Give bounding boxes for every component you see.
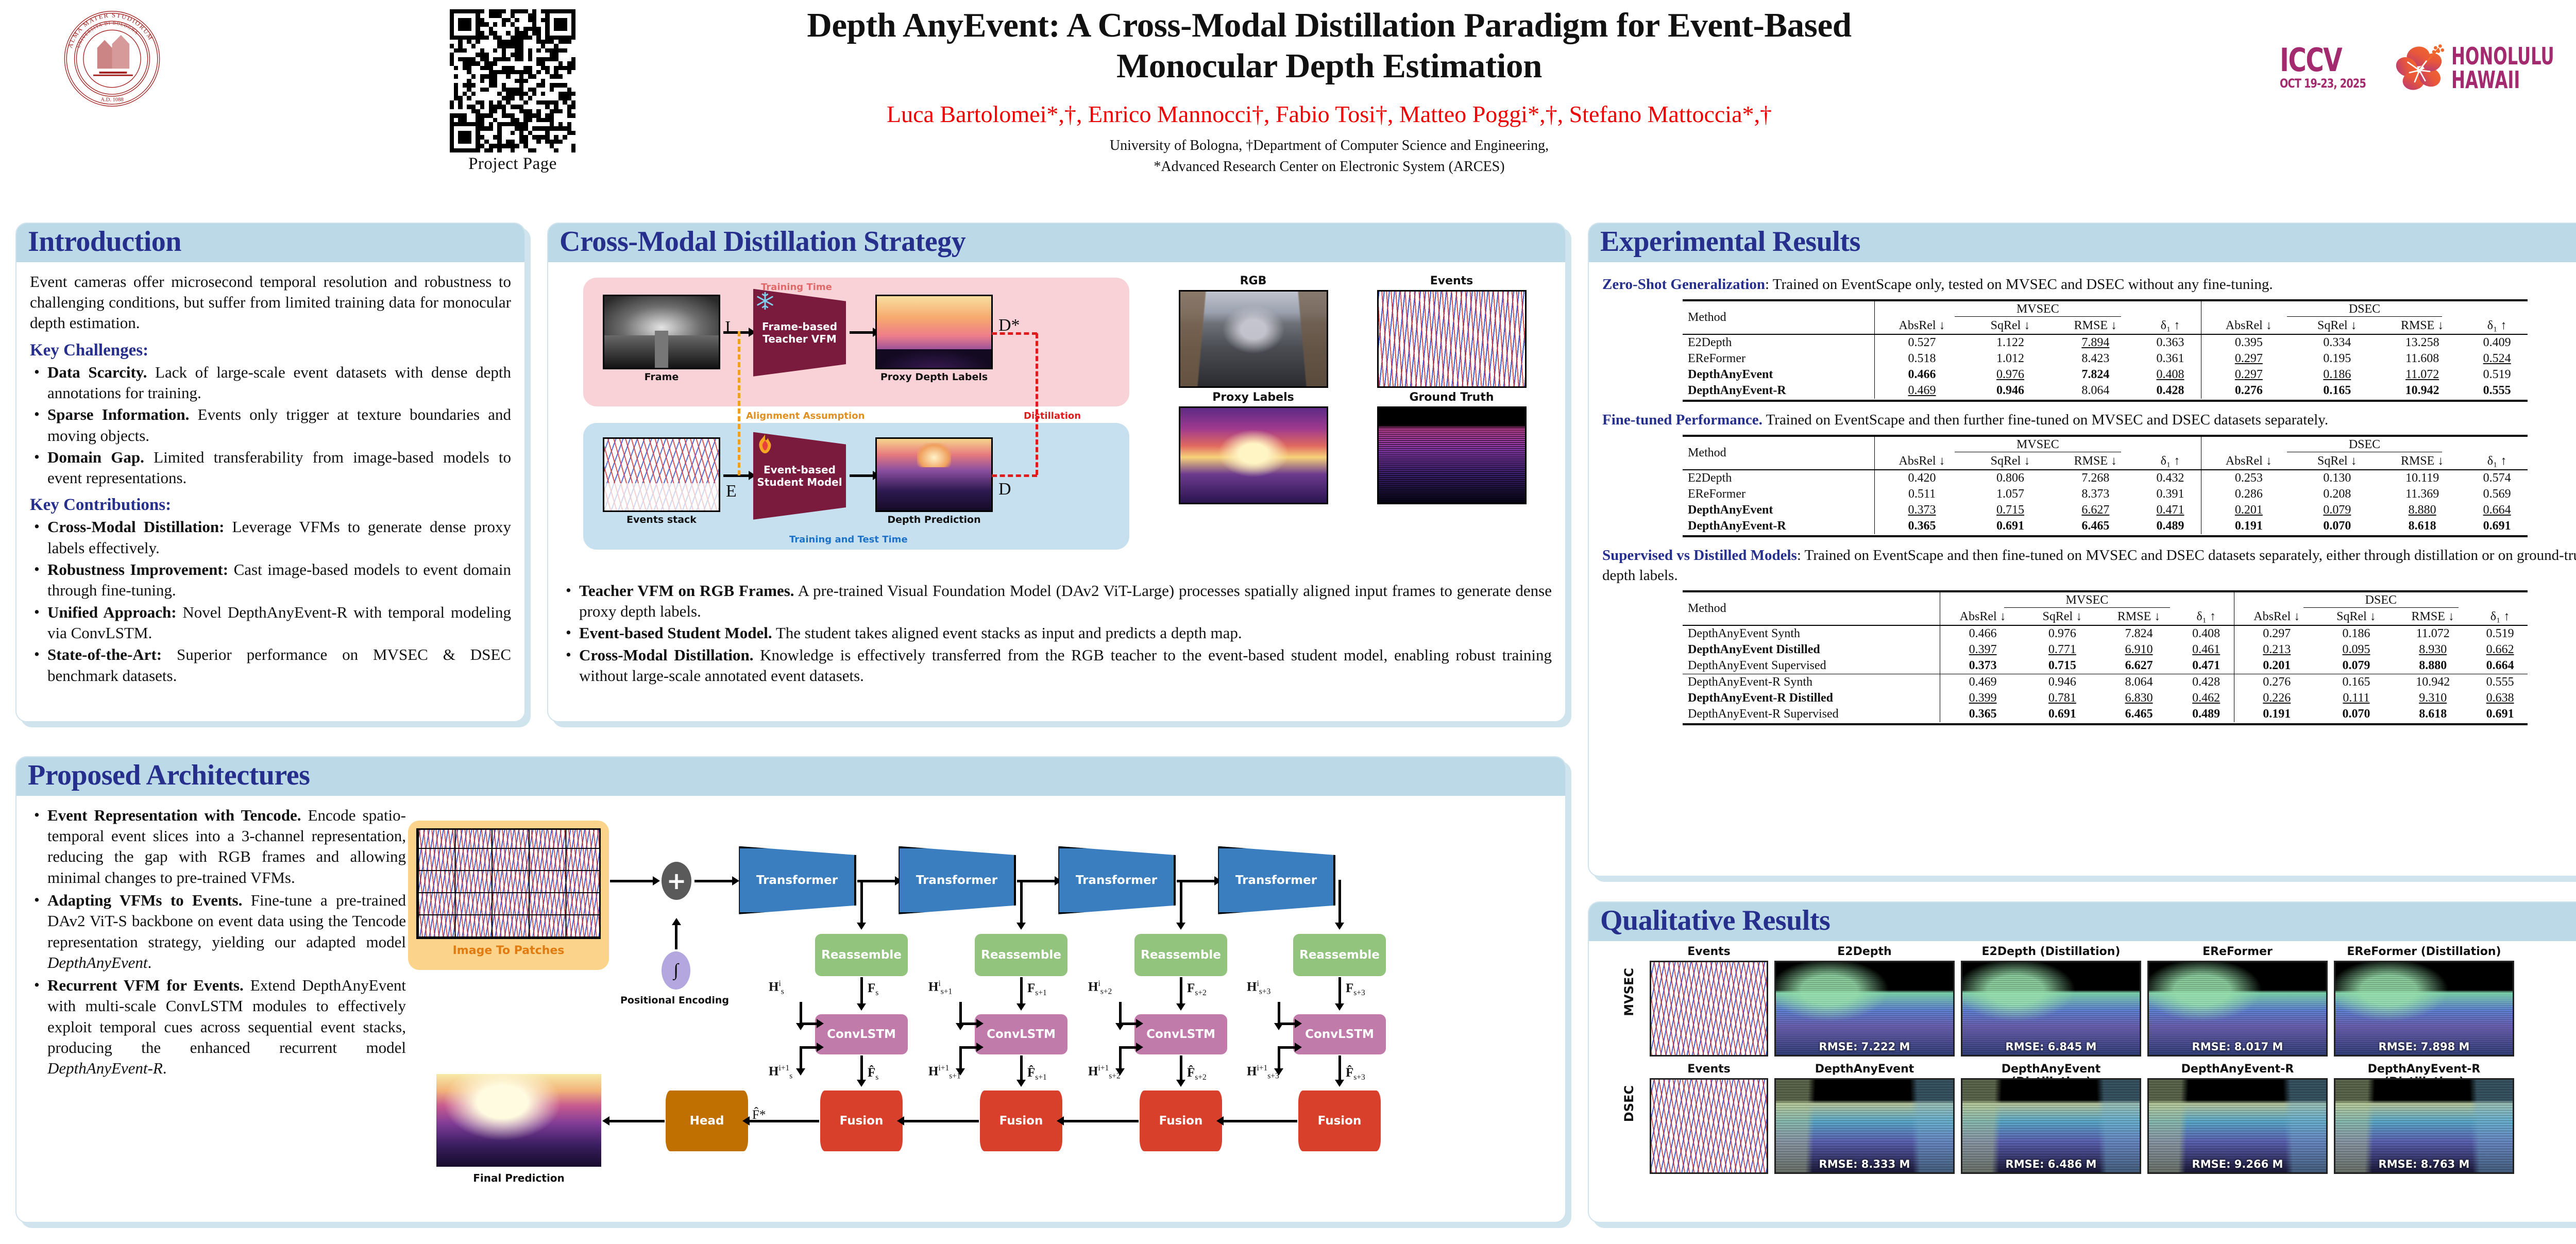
fusion-block-1: Fusion [820,1090,903,1151]
qualitative-header: Qualitative Results [1589,902,2576,941]
convlstm-block-2: ConvLSTM [975,1014,1067,1054]
table-cell: 0.397 [1940,642,2026,658]
table-cell: 0.361 [2140,351,2201,367]
metric-header-dsec-3: δ₁ ↑ [2472,609,2528,625]
metric-header-dsec-0: AbsRel ↓ [2201,318,2296,334]
list-item: Cross-Modal Distillation: Leverage VFMs … [30,517,511,558]
arrow-fusion3-fusion2 [1063,1120,1139,1122]
list-item: Event-based Student Model. The student t… [562,623,1552,643]
table-cell: 0.471 [2179,658,2234,674]
metric-header-dsec-0: AbsRel ↓ [2201,453,2296,470]
distillation-top-connector [992,332,1037,335]
group-header-dsec: DSEC [2201,436,2528,453]
table-cell: 0.276 [2234,674,2319,690]
gallery-caption-rgb: RGB [1154,275,1352,287]
author-list: Luca Bartolomei*,†, Enrico Mannocci†, Fa… [618,100,2040,128]
convlstm-block-3: ConvLSTM [1134,1014,1227,1054]
proxy-depth-thumbnail [875,295,993,369]
symbol-feature-in-2: Fs+1 [1027,981,1047,998]
rmse-overlay-label: RMSE: 6.845 M [1962,1041,2140,1053]
list-item-text: The student takes aligned event stacks a… [772,624,1242,642]
test-time-label: Training and Test Time [789,534,908,545]
qualitative-heading: Qualitative Results [1600,906,2576,936]
table-caption-3: Supervised vs Distilled Models: Trained … [1602,546,2576,585]
metric-header-dsec-1: SqRel ↓ [2296,318,2378,334]
table-cell: 0.519 [2466,367,2528,383]
project-page-qr[interactable]: Project Page [440,9,585,184]
table-cell: 8.930 [2393,642,2472,658]
table-row: E2Depth0.4200.8067.2680.4320.2530.13010.… [1683,470,2528,486]
list-item-term: Event-based Student Model. [579,624,772,642]
table-cell: 0.079 [2319,658,2393,674]
table-cell: 0.373 [1940,658,2026,674]
table-cell: 10.119 [2378,470,2466,486]
positional-encoding-label: Positional Encoding [620,995,729,1006]
row-method-name: DepthAnyEvent [1683,367,1874,383]
alignment-assumption-label: Alignment Assumption [746,411,865,421]
cross-modal-bullets: Teacher VFM on RGB Frames. A pre-trained… [562,581,1552,686]
metric-header-mvsec-2: RMSE ↓ [2099,609,2179,625]
table-cell: 11.072 [2393,625,2472,642]
metric-header-dsec-2: RMSE ↓ [2378,453,2466,470]
table-cell: 0.469 [1940,674,2026,690]
final-prediction-caption: Final Prediction [436,1172,601,1184]
table-cell: 7.268 [2052,470,2140,486]
table-cell: 0.638 [2472,690,2528,706]
column-header-method: Method [1683,591,1940,625]
experiments-body: Zero-Shot Generalization: Trained on Eve… [1589,262,2576,741]
table-cell: 8.373 [2052,486,2140,502]
table-cell: 6.465 [2099,706,2179,722]
symbol-feature-out-1: F̂s [868,1066,878,1082]
table-row: DepthAnyEvent-R0.4690.9468.0640.4280.276… [1683,383,2528,399]
rmse-overlay-label: RMSE: 7.222 M [1776,1041,1953,1053]
conference-state: HAWAII [2451,68,2554,92]
qualitative-column-caption: E2Depth [1774,945,1955,958]
table-cell: 0.365 [1874,518,1969,534]
list-item: Sparse Information. Events only trigger … [30,404,511,446]
fusion-block-4: Fusion [1298,1090,1381,1151]
list-item-term: Teacher VFM on RGB Frames. [579,582,794,600]
symbol-hidden-state-in-3: His+2 [1088,979,1112,996]
table-row: DepthAnyEvent-R Distilled0.3990.7816.830… [1683,690,2528,706]
gallery-cell-rgb: RGB [1154,271,1352,388]
group-header-dsec: DSEC [2234,591,2528,609]
cross-modal-header: Cross-Modal Distillation Strategy [548,224,1565,262]
affiliation-block: University of Bologna, †Department of Co… [618,135,2040,177]
introduction-header: Introduction [16,224,524,262]
table-row: DepthAnyEvent Distilled0.3970.7716.9100.… [1683,642,2528,658]
metric-header-dsec-3: δ₁ ↑ [2466,453,2528,470]
proxy-depth-caption: Proxy Depth Labels [875,371,993,383]
list-item: Data Scarcity. Lack of large-scale event… [30,362,511,404]
row-method-name: DepthAnyEvent-R Synth [1683,674,1940,690]
fusion-block-3: Fusion [1140,1090,1222,1151]
table-cell: 0.399 [1940,690,2026,706]
table-cell: 0.519 [2472,625,2528,642]
table-cell: 8.618 [2393,706,2472,722]
arrow-tf1-tf2 [857,880,895,882]
list-item: State-of-the-Art: Superior performance o… [30,644,511,686]
row-method-name: EReFormer [1683,351,1874,367]
table-cell: 7.894 [2052,334,2140,351]
arrow-tf3-tf4 [1177,880,1215,882]
table-cell: 0.420 [1874,470,1969,486]
table-caption-title: Fine-tuned Performance. [1602,412,1762,428]
group-header-mvsec: MVSEC [1874,300,2201,318]
student-model-label: Event-basedStudent Model [757,464,842,488]
list-item-term: Unified Approach: [47,603,177,621]
table-cell: 0.165 [2319,674,2393,690]
hin-drop-2 [959,1002,962,1024]
qualitative-column-caption: DepthAnyEvent-R [2147,1063,2328,1076]
list-item: Domain Gap. Limited transferability from… [30,447,511,489]
gallery-cell-proxy: Proxy Labels [1154,388,1352,504]
table-cell: 0.428 [2179,674,2234,690]
table-cell: 0.715 [1969,502,2051,518]
architecture-diagram: Image To Patches + ∫ Positional Encoding… [408,806,1557,1244]
title-block: Depth AnyEvent: A Cross-Modal Distillati… [618,5,2040,177]
symbol-f-hat-star: F̂* [752,1108,766,1122]
cross-modal-figure: Training Time Training and Test Time Ali… [562,271,1552,581]
table-cell: 0.555 [2466,383,2528,399]
table-cell: 0.781 [2025,690,2099,706]
list-item-term: Event Representation with Tencode. [47,806,301,824]
table-row: EReFormer0.5181.0128.4230.3610.2970.1951… [1683,351,2528,367]
table-cell: 6.627 [2052,502,2140,518]
transformer-block-2: Transformer [897,846,1016,914]
snowflake-icon [755,291,775,311]
table-row: DepthAnyEvent0.4660.9767.8240.4080.2970.… [1683,367,2528,383]
poster-title: Depth AnyEvent: A Cross-Modal Distillati… [618,5,2040,87]
table-cell: 0.462 [2179,690,2234,706]
list-item: Adapting VFMs to Events. Fine-tune a pre… [30,890,406,973]
frame-thumbnail [603,295,720,369]
gallery-image-gt [1377,406,1527,504]
arrow-reassemble2-convlstm2 [1020,977,1023,1004]
table-cell: 7.824 [2099,625,2179,642]
depth-prediction-thumbnail [875,437,993,512]
conference-city: HONOLULU [2451,44,2554,68]
metric-header-mvsec-0: AbsRel ↓ [1940,609,2026,625]
transformer-block-1: Transformer [738,846,856,914]
table-row: DepthAnyEvent-R Synth0.4690.9468.0640.42… [1683,674,2528,690]
table-cell: 0.574 [2466,470,2528,486]
table-cell: 0.186 [2296,367,2378,383]
row-method-name: E2Depth [1683,334,1874,351]
hin-drop-3 [1119,1002,1122,1024]
symbol-feature-in-1: Fs [868,981,878,998]
table-cell: 0.664 [2466,502,2528,518]
table-cell: 0.489 [2140,518,2201,534]
results-table-1: MethodMVSECDSECAbsRel ↓SqRel ↓RMSE ↓δ₁ ↑… [1683,299,2528,402]
arrow-student-to-prediction [850,474,873,477]
row-method-name: DepthAnyEvent Distilled [1683,642,1940,658]
qualitative-body: MVSECEventsE2DepthRMSE: 7.222 ME2Depth (… [1589,941,2576,1188]
qualitative-image-tile: RMSE: 8.763 M [2334,1078,2514,1174]
introduction-panel: Introduction Event cameras offer microse… [15,223,526,722]
key-challenges-list: Data Scarcity. Lack of large-scale event… [30,362,511,489]
qualitative-column-caption: DepthAnyEvent [1774,1063,1955,1076]
table-cell: 0.334 [2296,334,2378,351]
row-method-name: DepthAnyEvent-R [1683,518,1874,534]
table-cell: 0.409 [2466,334,2528,351]
transformer-block-4: Transformer [1217,846,1335,914]
list-item-term: Robustness Improvement: [47,560,228,578]
table-cell: 0.555 [2472,674,2528,690]
key-contributions-list: Cross-Modal Distillation: Leverage VFMs … [30,517,511,686]
qualitative-image-tile: RMSE: 7.898 M [2334,961,2514,1056]
list-item-term: Data Scarcity. [47,363,147,381]
table-cell: 0.715 [2025,658,2099,674]
table-cell: 0.276 [2201,383,2296,399]
table-cell: 8.064 [2099,674,2179,690]
poster-header: A.D. 1088 ALMA MATER STUDIORUM UNIVERSIT… [0,0,2576,216]
gallery-image-events [1377,290,1527,388]
table-cell: 0.286 [2201,486,2296,502]
metric-header-dsec-2: RMSE ↓ [2378,318,2466,334]
final-prediction-image [436,1074,601,1167]
symbol-hidden-state-out-3: Hi+1s+2 [1088,1064,1121,1081]
rmse-overlay-label: RMSE: 6.486 M [1962,1158,2140,1170]
iccv-conference-logo: ICCV OCT 19-23, 2025 [2280,34,2576,102]
rmse-overlay-label: RMSE: 9.266 M [2149,1158,2326,1170]
table-cell: 0.569 [2466,486,2528,502]
table-cell: 0.976 [1969,367,2051,383]
frame-caption: Frame [603,371,720,383]
row-method-name: DepthAnyEvent-R [1683,383,1874,399]
list-item: Recurrent VFM for Events. Extend DepthAn… [30,975,406,1079]
architectures-header: Proposed Architectures [16,757,1565,796]
table-cell: 0.208 [2296,486,2378,502]
table-caption-title: Supervised vs Distilled Models [1602,547,1797,564]
architectures-panel: Proposed Architectures Event Representat… [15,756,1566,1223]
arrow-tf1-reassemble [860,880,863,923]
symbol-I: I [725,318,731,337]
symbol-hidden-state-out-2: Hi+1s+1 [928,1064,961,1081]
table-cell: 0.461 [2179,642,2234,658]
table-cell: 0.373 [1874,502,1969,518]
table-cell: 0.471 [2140,502,2201,518]
hin-drop-1 [800,1002,802,1024]
table-cell: 0.186 [2319,625,2393,642]
distillation-dashed-line [1036,333,1038,475]
events-stack-thumbnail [603,437,720,512]
symbol-feature-in-3: Fs+2 [1187,981,1207,998]
metric-header-mvsec-1: SqRel ↓ [1969,318,2051,334]
distillation-flow-diagram: Training Time Training and Test Time Ali… [583,278,1129,550]
dataset-row-label-dsec: DSEC [1622,1085,1636,1122]
title-line-1: Depth AnyEvent: A Cross-Modal Distillati… [618,5,2040,46]
table-cell: 0.946 [2025,674,2099,690]
metric-header-dsec-3: δ₁ ↑ [2466,318,2528,334]
table-cell: 0.691 [2466,518,2528,534]
table-cell: 0.511 [1874,486,1969,502]
symbol-feature-out-3: F̂s+2 [1187,1066,1207,1082]
table-cell: 1.122 [1969,334,2051,351]
list-item-term: Cross-Modal Distillation: [47,518,224,536]
table-caption-1: Zero-Shot Generalization: Trained on Eve… [1602,275,2576,294]
table-cell: 13.258 [2378,334,2466,351]
head-block: Head [666,1090,748,1151]
results-table-2: MethodMVSECDSECAbsRel ↓SqRel ↓RMSE ↓δ₁ ↑… [1683,435,2528,537]
qualitative-image-tile: RMSE: 9.266 M [2147,1078,2328,1174]
table-cell: 0.070 [2319,706,2393,722]
table-cell: 8.423 [2052,351,2140,367]
symbol-hidden-state-in-2: His+1 [928,979,952,996]
table-cell: 0.466 [1940,625,2026,642]
arrow-convlstm4-fusion4 [1338,1055,1341,1080]
distillation-bottom-connector [992,474,1037,477]
metric-header-mvsec-3: δ₁ ↑ [2140,453,2201,470]
cross-modal-heading: Cross-Modal Distillation Strategy [560,227,1554,257]
table-cell: 11.369 [2378,486,2466,502]
table-cell: 0.432 [2140,470,2201,486]
experiments-heading: Experimental Results [1600,227,2576,257]
arrow-convlstm3-fusion3 [1180,1055,1182,1080]
qualitative-column-caption: EReFormer (Distillation) [2334,945,2514,958]
gallery-caption-events: Events [1352,275,1551,287]
metric-header-mvsec-2: RMSE ↓ [2052,453,2140,470]
rmse-overlay-label: RMSE: 7.898 M [2335,1041,2513,1053]
university-seal-logo: A.D. 1088 ALMA MATER STUDIORUM UNIVERSIT… [54,9,170,108]
metric-header-mvsec-0: AbsRel ↓ [1874,453,1969,470]
hout-drop-1 [800,1046,802,1069]
list-item-term: Recurrent VFM for Events. [47,976,244,994]
qualitative-image-tile: RMSE: 6.845 M [1961,961,2141,1056]
table-cell: 0.691 [2472,706,2528,722]
table-cell: 0.524 [2466,351,2528,367]
flame-icon [756,434,774,455]
table-cell: 0.691 [1969,518,2051,534]
arrow-reassemble1-convlstm1 [860,977,863,1004]
metric-header-dsec-1: SqRel ↓ [2319,609,2393,625]
table-cell: 0.518 [1874,351,1969,367]
table-cell: 0.527 [1874,334,1969,351]
table-cell: 0.363 [2140,334,2201,351]
table-row: DepthAnyEvent0.3730.7156.6270.4710.2010.… [1683,502,2528,518]
metric-header-mvsec-2: RMSE ↓ [2052,318,2140,334]
table-cell: 0.201 [2201,502,2296,518]
qualitative-image-tile: RMSE: 7.222 M [1774,961,1955,1056]
cross-modal-gallery: RGB Events Proxy Labels [1154,271,1551,504]
alignment-dashed-line [738,331,740,475]
qualitative-image-tile: RMSE: 8.333 M [1774,1078,1955,1174]
arrow-tf4-reassemble [1338,880,1341,923]
list-item-term: Adapting VFMs to Events. [47,891,242,909]
table-cell: 0.395 [2201,334,2296,351]
qr-caption: Project Page [440,155,585,174]
table-row: DepthAnyEvent Supervised0.3730.7156.6270… [1683,658,2528,674]
column-header-method: Method [1683,300,1874,334]
elbow-hout-2 [960,1046,977,1049]
table-cell: 6.830 [2099,690,2179,706]
metric-header-dsec-2: RMSE ↓ [2393,609,2472,625]
transformer-block-3: Transformer [1057,846,1176,914]
row-method-name: DepthAnyEvent Supervised [1683,658,1940,674]
reassemble-block-2: Reassemble [975,934,1067,976]
rmse-overlay-label: RMSE: 8.333 M [1776,1158,1953,1170]
list-item-term: Domain Gap. [47,448,144,466]
qualitative-image-tile [1650,1078,1768,1174]
hin-drop-4 [1278,1002,1280,1024]
arrow-frame-to-teacher [723,331,749,334]
table-cell: 0.806 [1969,470,2051,486]
table-cell: 0.079 [2296,502,2378,518]
row-method-name: EReFormer [1683,486,1874,502]
depth-prediction-caption: Depth Prediction [875,514,993,525]
elbow-hout-3 [1120,1046,1137,1049]
gallery-caption-proxy: Proxy Labels [1154,391,1352,404]
teacher-vfm-label: Frame-basedTeacher VFM [762,320,837,345]
reassemble-block-3: Reassemble [1134,934,1227,976]
table-cell: 0.664 [2472,658,2528,674]
table-row: E2Depth0.5271.1227.8940.3630.3950.33413.… [1683,334,2528,351]
elbow-hout-1 [801,1046,817,1049]
symbol-feature-out-2: F̂s+1 [1027,1066,1047,1082]
list-item-term: State-of-the-Art: [47,645,162,663]
arrow-patches-to-plus [610,880,653,882]
architectures-heading: Proposed Architectures [28,760,1554,791]
table-cell: 6.465 [2052,518,2140,534]
table-cell: 10.942 [2393,674,2472,690]
table-row: EReFormer0.5111.0578.3730.3910.2860.2081… [1683,486,2528,502]
table-row: DepthAnyEvent Synth0.4660.9767.8240.4080… [1683,625,2528,642]
table-caption-2: Fine-tuned Performance. Trained on Event… [1602,410,2576,430]
arrow-fusion4-fusion3 [1223,1120,1297,1122]
table-cell: 11.072 [2378,367,2466,383]
symbol-feature-out-4: F̂s+3 [1346,1066,1365,1082]
list-item-emphasis: DepthAnyEvent-R [47,1059,163,1077]
results-table-3: MethodMVSECDSECAbsRel ↓SqRel ↓RMSE ↓δ₁ ↑… [1683,590,2528,725]
table-cell: 0.130 [2296,470,2378,486]
symbol-feature-in-4: Fs+3 [1346,981,1365,998]
arrow-plus-to-transformer [694,880,733,882]
table-cell: 0.070 [2296,518,2378,534]
qualitative-image-tile [1650,961,1768,1056]
positional-encoding-node: ∫ [662,951,690,990]
metric-header-mvsec-1: SqRel ↓ [1969,453,2051,470]
table-cell: 8.064 [2052,383,2140,399]
table-cell: 0.976 [2025,625,2099,642]
table-cell: 0.213 [2234,642,2319,658]
convlstm-block-4: ConvLSTM [1293,1014,1386,1054]
table-caption-text: : Trained on EventScape only, tested on … [1765,276,2273,293]
table-cell: 0.771 [2025,642,2099,658]
arrow-reassemble4-convlstm4 [1338,977,1341,1004]
column-header-method: Method [1683,436,1874,470]
table-cell: 0.165 [2296,383,2378,399]
table-cell: 0.297 [2234,625,2319,642]
list-item: Cross-Modal Distillation. Knowledge is e… [562,645,1552,687]
table-cell: 0.391 [2140,486,2201,502]
list-item-emphasis: DepthAnyEvent [47,953,148,972]
table-cell: 1.057 [1969,486,2051,502]
row-method-name: DepthAnyEvent-R Distilled [1683,690,1940,706]
table-cell: 0.191 [2234,706,2319,722]
list-item-term: Cross-Modal Distillation. [579,646,753,664]
dataset-row-label-mvsec: MVSEC [1622,968,1636,1016]
gallery-image-rgb [1179,290,1328,388]
hibiscus-flower-icon [2391,39,2448,97]
conference-name: ICCV [2280,45,2342,75]
row-method-name: E2Depth [1683,470,1874,486]
qualitative-image-tile: RMSE: 6.486 M [1961,1078,2141,1174]
table-cell: 9.310 [2393,690,2472,706]
key-contributions-heading: Key Contributions: [30,496,511,515]
conference-date: OCT 19-23, 2025 [2280,76,2366,91]
qualitative-column-caption: Events [1650,945,1768,958]
